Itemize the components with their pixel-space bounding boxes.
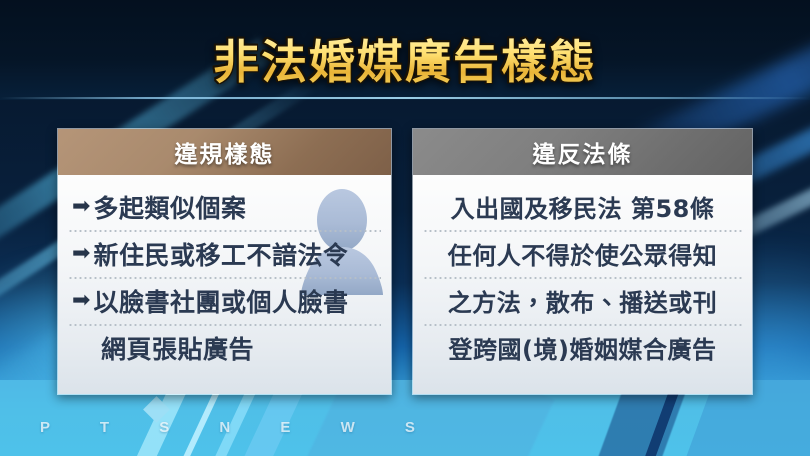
list-item: ➡ 多起類似個案 (58, 183, 391, 230)
panel-violation-types: 違規樣態 ➡ 多起類似個案 ➡ (57, 128, 392, 395)
list-item-label: 多起類似個案 (93, 189, 246, 225)
panel-header-violated-law: 違反法條 (413, 129, 752, 175)
panel-header-violation-types: 違規樣態 (58, 129, 391, 175)
panel-body-violated-law: 入出國及移民法 第58條 任何人不得於使公眾得知 之方法，散布、播送或刊 登跨國… (413, 175, 752, 394)
list-item-label: 之方法，散布、播送或刊 (448, 283, 718, 318)
panel-violated-law: 違反法條 入出國及移民法 第58條 任何人不得於使公眾得知 之方法，散布、播送或… (412, 128, 753, 395)
list-item-label: 登跨國(境)婚姻媒合廣告 (449, 330, 717, 365)
list-item: 之方法，散布、播送或刊 (413, 277, 752, 324)
list-item: 任何人不得於使公眾得知 (413, 230, 752, 277)
law-row-list: 入出國及移民法 第58條 任何人不得於使公眾得知 之方法，散布、播送或刊 登跨國… (413, 175, 752, 371)
list-item: ➡ 以臉書社團或個人臉書 (58, 277, 391, 324)
news-graphic-stage: P T S N E W S 非法婚媒廣告樣態 違規樣態 (0, 0, 810, 456)
panel-body-violation-types: ➡ 多起類似個案 ➡ 新住民或移工不諳法令 ➡ 以臉書社團或個人臉書 網頁張貼廣… (58, 175, 391, 394)
list-item-label: 任何人不得於使公眾得知 (448, 236, 718, 271)
list-item-label: 網頁張貼廣告 (101, 330, 254, 366)
list-item-label: 入出國及移民法 第58條 (451, 189, 715, 224)
violation-row-list: ➡ 多起類似個案 ➡ 新住民或移工不諳法令 ➡ 以臉書社團或個人臉書 網頁張貼廣… (58, 175, 391, 371)
panel-header-label: 違反法條 (533, 135, 633, 169)
page-title: 非法婚媒廣告樣態 (0, 26, 810, 92)
list-item-label: 以臉書社團或個人臉書 (93, 283, 348, 319)
pts-news-watermark: P T S N E W S (40, 419, 438, 436)
arrow-right-icon: ➡ (72, 196, 90, 218)
list-item-label: 新住民或移工不諳法令 (93, 236, 348, 272)
panel-header-label: 違規樣態 (175, 135, 275, 169)
background-horizon-line (0, 97, 810, 99)
list-item: 入出國及移民法 第58條 (413, 183, 752, 230)
list-item: ➡ 新住民或移工不諳法令 (58, 230, 391, 277)
arrow-right-icon: ➡ (72, 243, 90, 265)
arrow-right-icon: ➡ (72, 290, 90, 312)
list-item: 網頁張貼廣告 (58, 324, 391, 371)
list-item: 登跨國(境)婚姻媒合廣告 (413, 324, 752, 371)
